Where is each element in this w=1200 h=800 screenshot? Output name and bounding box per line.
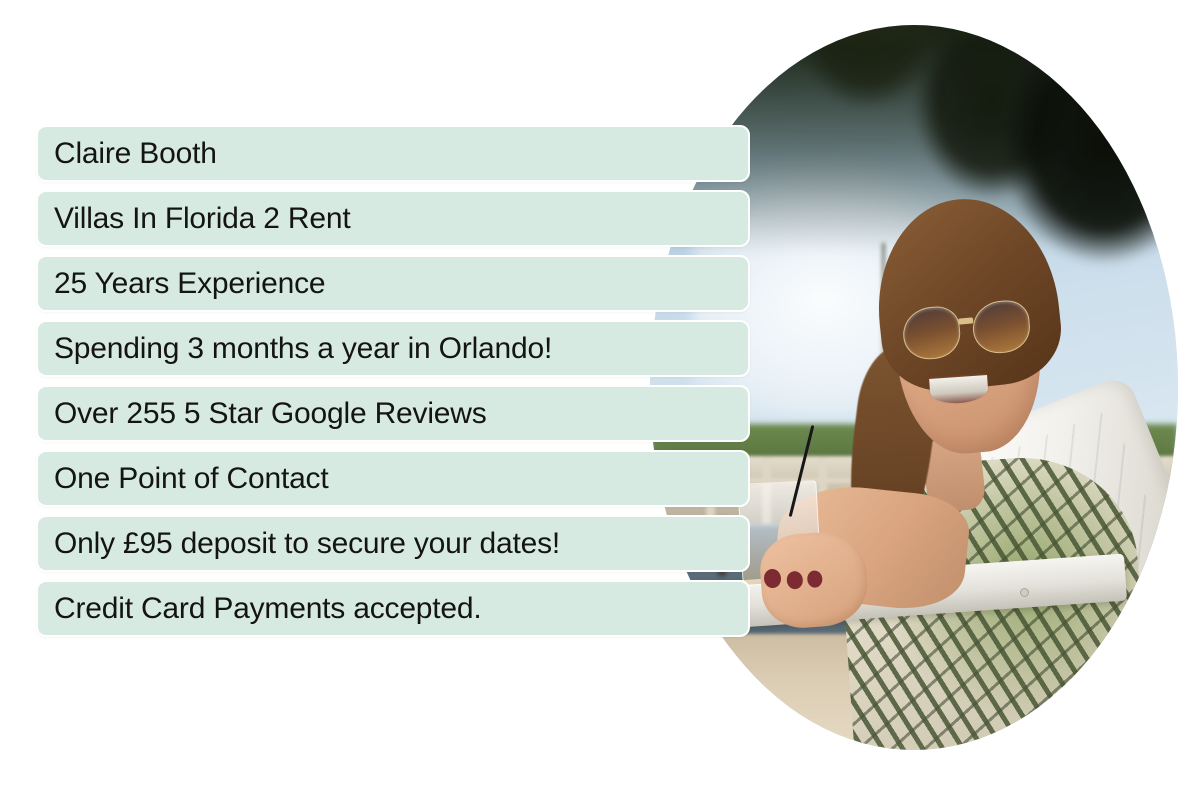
pill-item-4[interactable]: Spending 3 months a year in Orlando!: [36, 320, 750, 377]
pill-label: Claire Booth: [54, 139, 217, 169]
pill-item-2[interactable]: Villas In Florida 2 Rent: [36, 190, 750, 247]
pill-item-8[interactable]: Credit Card Payments accepted.: [36, 580, 750, 637]
pill-item-6[interactable]: One Point of Contact: [36, 450, 750, 507]
pill-label: Only £95 deposit to secure your dates!: [54, 529, 560, 559]
pill-label: Villas In Florida 2 Rent: [54, 204, 350, 234]
pill-label: One Point of Contact: [54, 464, 329, 494]
pill-label: Spending 3 months a year in Orlando!: [54, 334, 552, 364]
sunglasses-right-lens: [971, 299, 1032, 356]
pill-item-7[interactable]: Only £95 deposit to secure your dates!: [36, 515, 750, 572]
photo-chair-armrest-bolt: [1020, 588, 1029, 597]
pill-item-1[interactable]: Claire Booth: [36, 125, 750, 182]
sunglasses-left-lens: [901, 305, 962, 362]
pill-item-3[interactable]: 25 Years Experience: [36, 255, 750, 312]
poster-canvas: Claire Booth Villas In Florida 2 Rent 25…: [0, 0, 1200, 800]
sunglasses-bridge: [958, 317, 974, 325]
pill-label: Credit Card Payments accepted.: [54, 594, 482, 624]
pill-label: Over 255 5 Star Google Reviews: [54, 399, 487, 429]
feature-pill-list: Claire Booth Villas In Florida 2 Rent 25…: [36, 125, 750, 637]
pill-label: 25 Years Experience: [54, 269, 325, 299]
pill-item-5[interactable]: Over 255 5 Star Google Reviews: [36, 385, 750, 442]
